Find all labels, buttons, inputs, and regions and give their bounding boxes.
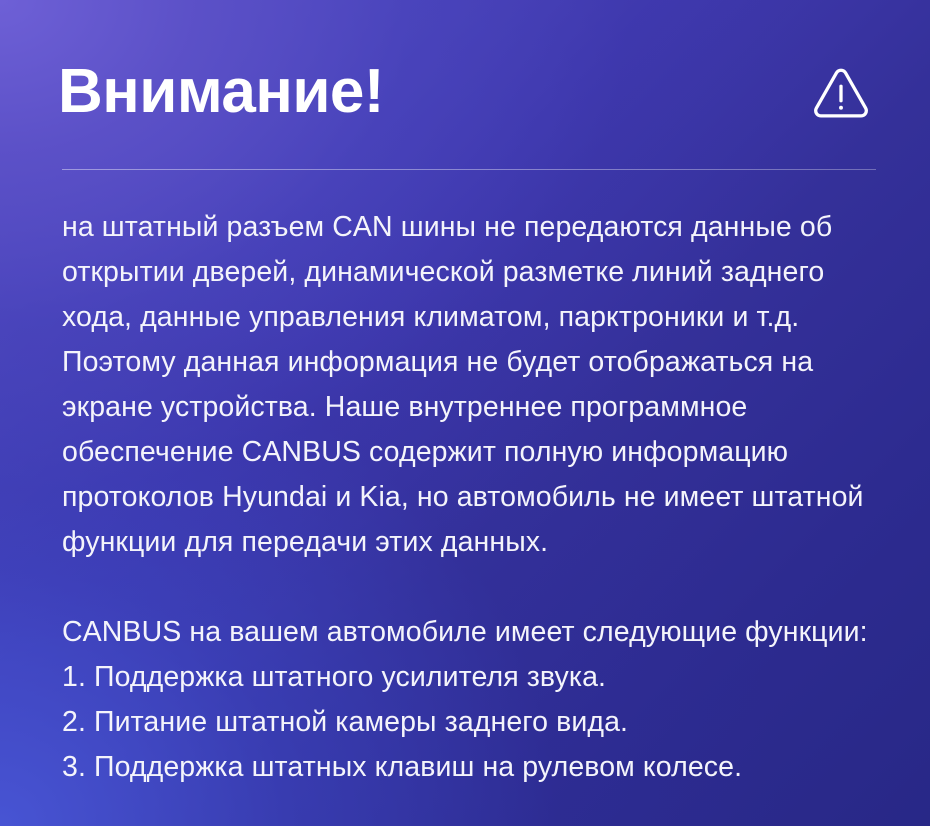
notice-paragraph: на штатный разъем CAN шины не передаются… [62,205,880,565]
warning-notice-screen: Внимание! на штатный разъем CAN шины не … [0,0,930,826]
notice-line: функции для передачи этих данных. [62,520,880,565]
features-intro: CANBUS на вашем автомобиле имеет следующ… [62,610,880,655]
notice-line: на штатный разъем CAN шины не передаются… [62,205,880,250]
feature-list-item: 2. Питание штатной камеры заднего вида. [62,700,880,745]
notice-line: экране устройства. Наше внутреннее прогр… [62,385,880,430]
notice-content: на штатный разъем CAN шины не передаются… [62,205,880,790]
warning-triangle-icon [810,62,872,124]
page-title: Внимание! [58,56,384,128]
notice-line: обеспечение CANBUS содержит полную инфор… [62,430,880,475]
notice-line: протоколов Hyundai и Kia, но автомобиль … [62,475,880,520]
notice-line: открытии дверей, динамической разметке л… [62,250,880,295]
header: Внимание! [0,0,930,170]
features-paragraph: CANBUS на вашем автомобиле имеет следующ… [62,610,880,790]
feature-list-item: 1. Поддержка штатного усилителя звука. [62,655,880,700]
feature-list-item: 3. Поддержка штатных клавиш на рулевом к… [62,745,880,790]
notice-line: хода, данные управления климатом, парктр… [62,295,880,340]
notice-line: Поэтому данная информация не будет отобр… [62,340,880,385]
header-divider [62,169,876,170]
